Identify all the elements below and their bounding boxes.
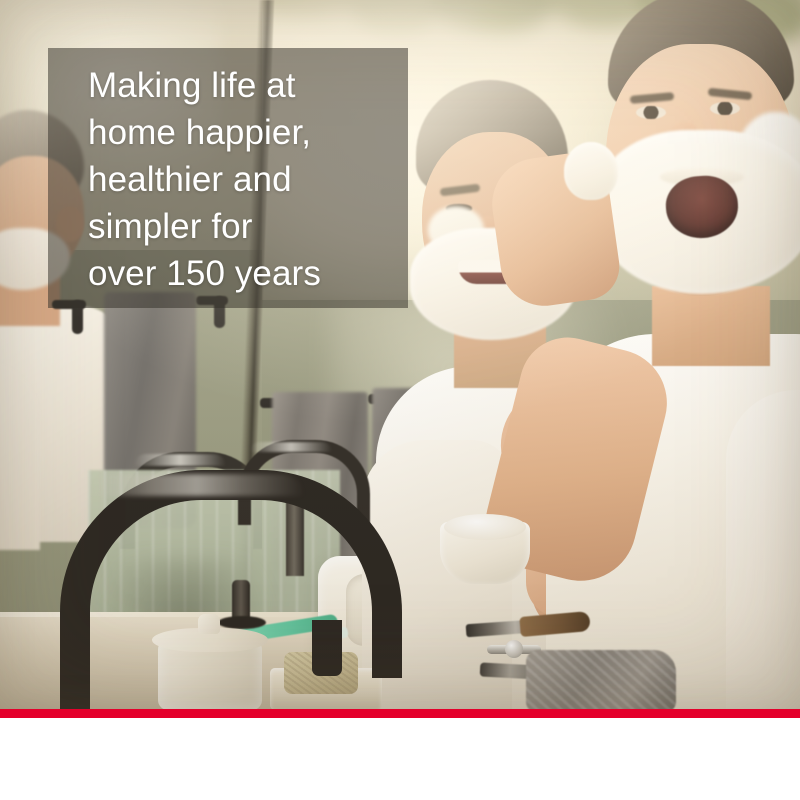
main-gooseneck-faucet xyxy=(60,470,360,710)
footer-bar: American Standard xyxy=(0,718,800,800)
shaving-foam-on-fingertip xyxy=(564,142,618,200)
son-figure xyxy=(556,0,800,710)
advertisement-root: Making life at home happier, healthier a… xyxy=(0,0,800,800)
brand-red-divider xyxy=(0,709,800,718)
headline-text: Making life at home happier, healthier a… xyxy=(88,62,418,297)
folded-hand-towel xyxy=(526,650,676,710)
shaving-cream-foam xyxy=(444,514,526,540)
